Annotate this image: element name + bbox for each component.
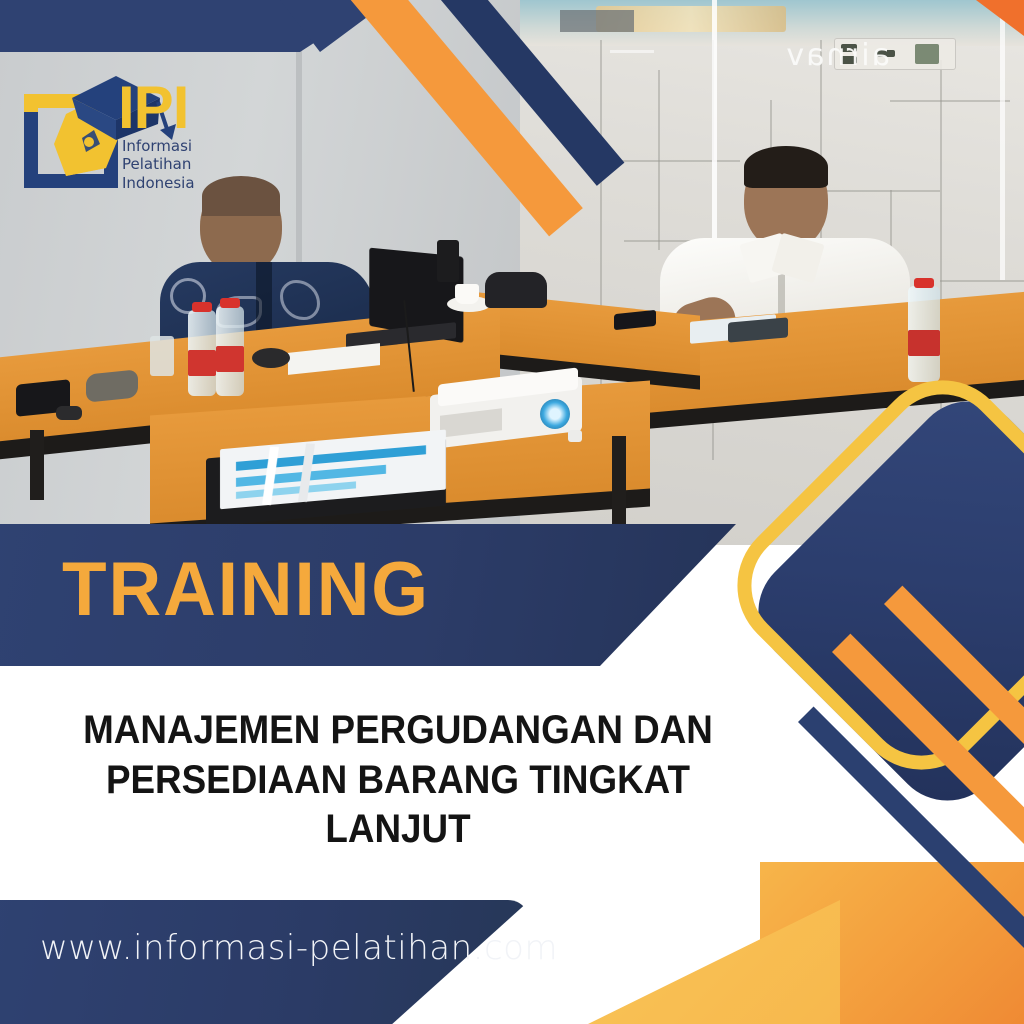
photo-bag bbox=[485, 272, 547, 308]
logo-subtitle-line-2: Pelatihan bbox=[122, 155, 195, 173]
page-title: MANAJEMEN PERGUDANGAN DAN PERSEDIAAN BAR… bbox=[48, 706, 747, 855]
logo-subtitle-line-3: Indonesia bbox=[122, 174, 195, 192]
photo-table-leg-1 bbox=[30, 430, 44, 500]
title-line-3: LANJUT bbox=[48, 805, 747, 855]
photo-coffee-cup bbox=[455, 284, 479, 304]
website-url[interactable]: www.informasi-pelatihan.com bbox=[40, 928, 558, 968]
photo-bottle-1 bbox=[188, 310, 216, 396]
training-label: TRAINING bbox=[62, 546, 430, 633]
photo-glass bbox=[150, 336, 174, 376]
logo-subtitle: Informasi Pelatihan Indonesia bbox=[122, 137, 195, 192]
photo-bottle-3 bbox=[908, 286, 940, 382]
photo-table-leg-2 bbox=[612, 436, 626, 526]
photo-bottle-2 bbox=[216, 306, 244, 396]
photo-ceiling-vent bbox=[560, 10, 634, 32]
photo-mouse bbox=[252, 348, 290, 368]
photo-wall-sign-text: airnav bbox=[740, 38, 890, 73]
logo-acronym: IPI bbox=[118, 78, 188, 138]
photo-glass-post-2 bbox=[1000, 0, 1005, 280]
title-line-2: PERSEDIAAN BARANG TINGKAT bbox=[48, 756, 747, 806]
photo-pouch bbox=[86, 369, 138, 402]
title-line-1: MANAJEMEN PERGUDANGAN DAN bbox=[48, 706, 747, 756]
training-poster: airnav bbox=[0, 0, 1024, 1024]
logo-subtitle-line-1: Informasi bbox=[122, 137, 195, 155]
photo-speaker bbox=[437, 240, 459, 282]
photo-projector bbox=[430, 372, 590, 444]
photo-keys bbox=[56, 406, 82, 420]
